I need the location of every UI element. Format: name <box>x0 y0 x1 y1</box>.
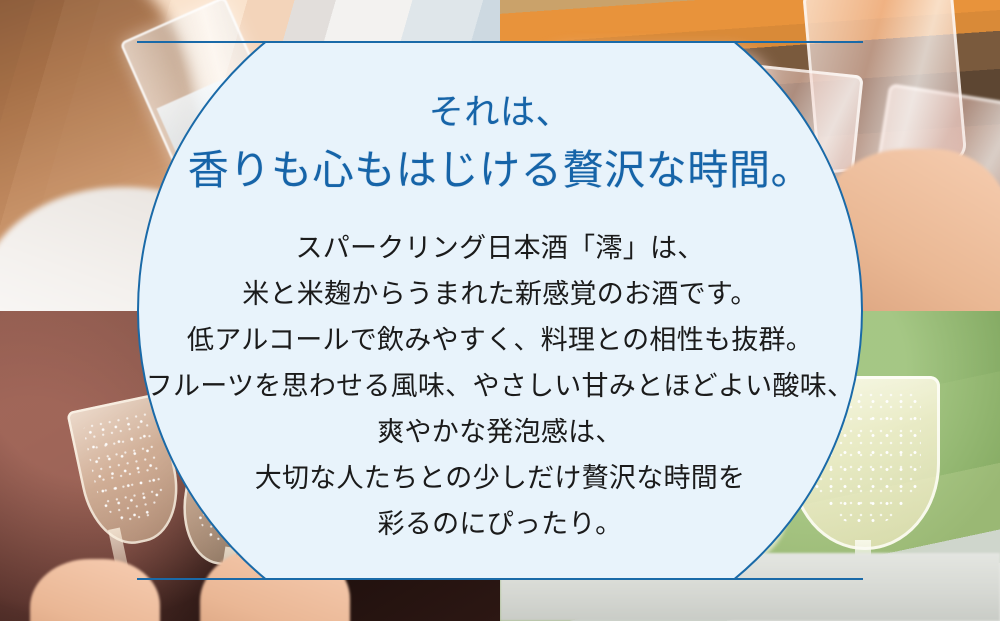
body-line: スパークリング日本酒「澪」は、 <box>146 225 854 271</box>
body-line: フルーツを思わせる風味、やさしい甘みとほどよい酸味、 <box>146 363 854 409</box>
headline-line-2: 香りも心もはじける贅沢な時間。 <box>188 141 813 199</box>
body-line: 低アルコールで飲みやすく、料理との相性も抜群。 <box>146 317 854 363</box>
promo-banner: それは、 香りも心もはじける贅沢な時間。 スパークリング日本酒「澪」は、 米と米… <box>0 0 1000 621</box>
body-line: 米と米麹からうまれた新感覚のお酒です。 <box>146 271 854 317</box>
headline: それは、 香りも心もはじける贅沢な時間。 <box>188 89 813 199</box>
headline-line-1: それは、 <box>188 89 813 139</box>
panel-content: それは、 香りも心もはじける贅沢な時間。 スパークリング日本酒「澪」は、 米と米… <box>137 41 863 580</box>
body-copy: スパークリング日本酒「澪」は、 米と米麹からうまれた新感覚のお酒です。 低アルコ… <box>146 225 854 547</box>
body-line: 大切な人たちとの少しだけ贅沢な時間を <box>146 455 854 501</box>
body-line: 彩るのにぴったり。 <box>146 501 854 547</box>
body-line: 爽やかな発泡感は、 <box>146 409 854 455</box>
